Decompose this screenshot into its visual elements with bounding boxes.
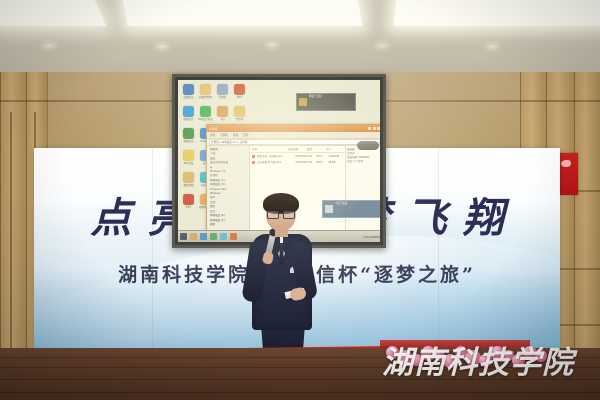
ribbon-tab[interactable]: 管理 [243, 133, 248, 137]
desktop-icon-glyph [200, 106, 211, 117]
explorer-title-bar[interactable]: 计算机 [207, 125, 380, 132]
desktop-icon[interactable]: 酷狗音乐 [181, 106, 196, 121]
desktop-icon-glyph [217, 84, 228, 95]
address-path[interactable]: 计算机 ▸ 本地磁盘 (D:) ▸ 演讲稿 [209, 139, 380, 145]
window-controls[interactable] [368, 127, 380, 130]
ceiling-light-panel [393, 0, 600, 26]
venue-watermark: 湖南科技学院 [382, 340, 597, 390]
file-name: 逐梦之旅 - 演讲稿.pptx [257, 154, 293, 158]
explorer-ribbon-tabs[interactable]: 文件计算机查看管理 [207, 132, 380, 139]
column-header[interactable]: 大小 [326, 147, 343, 151]
file-list-column-headers[interactable]: 名称修改日期类型大小 [250, 146, 345, 153]
media-icon[interactable] [210, 233, 217, 240]
desktop-icon[interactable]: PPS [232, 84, 247, 99]
desktop-icon[interactable]: QQ [215, 106, 230, 121]
desktop-icon[interactable]: 新建文件夹 [198, 84, 213, 99]
desktop-icon[interactable]: 计算机 [215, 84, 230, 99]
file-row[interactable]: 点亮青春 梦飞翔.docx2016/5/12 9:18DOCX36 KB [250, 159, 345, 165]
desktop-icon-label: PPT [181, 206, 196, 209]
file-name: 点亮青春 梦飞翔.docx [257, 160, 293, 164]
downlight-icon [42, 42, 56, 49]
file-rows[interactable]: 逐梦之旅 - 演讲稿.pptx2016/5/12 9:24PPTX2,184 K… [250, 153, 345, 165]
notification-toast[interactable]: 网络已连接 本地连接 速度 100 Mbps [296, 93, 356, 111]
desktop-icon[interactable]: 暴风影音 [181, 128, 196, 143]
ceiling-light-panel [123, 0, 363, 26]
desktop-icon-glyph [183, 172, 194, 183]
desktop-icon-label: 新建文件夹 [198, 96, 213, 99]
detail-line: 包含: 2 个文件 [347, 160, 380, 164]
ribbon-tab[interactable]: 计算机 [220, 133, 228, 137]
speaker [246, 196, 318, 371]
usb-icon [325, 205, 333, 213]
desktop-icon-label: 计算机 [215, 96, 230, 99]
ceiling-light-panel [0, 0, 106, 26]
close-icon[interactable] [377, 127, 380, 130]
desktop-icon-glyph [183, 128, 194, 139]
explorer-address-bar[interactable]: 计算机 ▸ 本地磁盘 (D:) ▸ 演讲稿 [207, 139, 380, 146]
desktop-icon-label: 360安全浏览器 [198, 118, 213, 121]
desktop-icon-glyph [183, 84, 194, 95]
taskbar-clock[interactable]: 9:26 2016/5/12 [363, 235, 380, 239]
desktop-icon-glyph [200, 84, 211, 95]
desktop-icon[interactable]: 文件夹 [232, 106, 247, 121]
desktop-icon[interactable]: 360安全浏览器 [198, 106, 213, 121]
ceiling [0, 0, 600, 78]
desktop-icon-label: PPS [232, 96, 247, 99]
desktop-icon-label: QQ [215, 118, 230, 121]
file-type: PPTX [316, 155, 327, 158]
notification-toast[interactable]: U盘已就绪 可移动磁盘 (G:) [322, 200, 380, 218]
ribbon-tab[interactable]: 查看 [233, 133, 238, 137]
desktop-icon[interactable]: 360压缩 [181, 150, 196, 165]
maximize-icon[interactable] [373, 127, 376, 130]
ribbon-tab[interactable]: 文件 [210, 133, 215, 137]
banner-fold [152, 148, 153, 348]
qq-icon[interactable] [220, 233, 227, 240]
file-date: 2016/5/12 9:18 [295, 161, 313, 164]
downlight-icon [265, 41, 279, 48]
desktop-icon-glyph [183, 106, 194, 117]
toast-body: 可移动磁盘 (G:) [335, 220, 353, 223]
network-icon [299, 98, 307, 106]
toast-body: 本地连接 速度 100 Mbps [309, 113, 337, 116]
desktop-icon-glyph [217, 106, 228, 117]
glasses-icon [267, 211, 295, 217]
desktop-icon-glyph [183, 150, 194, 161]
desktop-icon-glyph [234, 84, 245, 95]
desktop-icon[interactable]: 我的文档 [181, 172, 196, 187]
cursor-highlight [357, 141, 379, 150]
file-type-icon [252, 161, 255, 164]
column-header[interactable]: 名称 [252, 147, 286, 151]
column-header[interactable]: 类型 [307, 147, 324, 151]
desktop-icon[interactable]: PPT [181, 194, 196, 209]
downlight-icon [155, 43, 169, 50]
banner-fold [438, 148, 439, 348]
downlight-icon [375, 42, 389, 49]
file-date: 2016/5/12 9:24 [295, 155, 313, 158]
browser-icon[interactable] [200, 233, 207, 240]
photo-scene: 励志 成长 点亮青春 梦飞翔 湖南科技学院首届诚信杯“逐梦之旅” 迅雷影音酷狗音… [0, 0, 600, 400]
explorer-icon[interactable] [190, 233, 197, 240]
desktop-icon-label: 360压缩 [181, 162, 196, 165]
column-header[interactable]: 修改日期 [288, 147, 305, 151]
floor-plank-line [0, 392, 600, 393]
desktop-icon-label: 酷狗音乐 [181, 118, 196, 121]
toast-title: U盘已就绪 [335, 202, 347, 205]
desktop-icon-label: 我的文档 [181, 184, 196, 187]
nav-tree-item[interactable]: 网络 [208, 223, 248, 227]
toast-title: 网络已连接 [309, 95, 322, 98]
explorer-nav-pane[interactable]: 收藏夹下载桌面最近访问的位置库Windows 7 库计算机本地磁盘 (C:)本地… [207, 146, 250, 242]
file-type: DOCX [316, 161, 327, 164]
desktop-icon-label: 暴风影音 [181, 140, 196, 143]
desktop-icon-label: 文件夹 [232, 118, 247, 121]
desktop-icon[interactable]: 迅雷影音 [181, 84, 196, 99]
start-icon[interactable] [180, 233, 187, 240]
file-size: 2,184 KB [328, 155, 343, 158]
desktop-icon-label: 迅雷影音 [181, 96, 196, 99]
explorer-title: 计算机 [209, 127, 368, 131]
desktop-icon-glyph [183, 194, 194, 205]
minimize-icon[interactable] [368, 127, 371, 130]
desktop-icon-glyph [234, 106, 245, 117]
downlight-icon [485, 43, 499, 50]
wps-icon[interactable] [230, 233, 237, 240]
file-type-icon [252, 155, 255, 158]
file-size: 36 KB [328, 161, 343, 164]
